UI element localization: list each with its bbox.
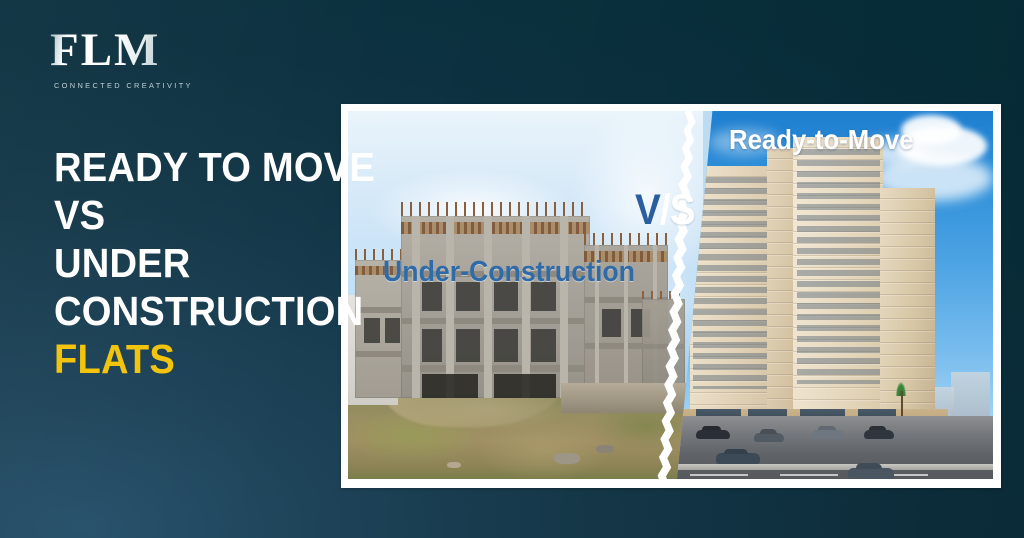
uc-opening-m7 — [494, 329, 519, 362]
versus-label: V/S — [635, 186, 695, 235]
brand-logo[interactable]: FLM CONNECTED CREATIVITY — [50, 27, 230, 90]
under-construction-structure — [355, 207, 681, 398]
column-m3 — [484, 216, 492, 398]
headline-line-1: READY TO MOVE — [54, 143, 324, 191]
car-3 — [812, 430, 844, 439]
site-boundary-wall — [561, 383, 703, 412]
car-foreground-1 — [716, 453, 760, 464]
car-2 — [754, 433, 784, 442]
scene-ready-to-move — [671, 111, 994, 479]
uc-ground-opening-1 — [422, 374, 479, 398]
logo-wordmark: FLM — [50, 27, 160, 75]
scene-under-construction — [348, 111, 703, 479]
headline-line-3: UNDER — [54, 239, 324, 287]
uc-opening-r1 — [602, 309, 621, 337]
column-m5 — [560, 216, 568, 398]
rebar-row-far — [642, 291, 684, 299]
tower-main-block — [793, 137, 883, 431]
column-m4 — [522, 216, 530, 398]
uc-opening-m5 — [422, 329, 443, 362]
car-1 — [696, 430, 730, 439]
headline-line-5-accent: FLATS — [54, 335, 324, 383]
road-kerb — [671, 464, 994, 470]
tower-main-balconies — [797, 149, 880, 385]
slab-left-2 — [355, 351, 407, 357]
tower-left-balconies — [693, 177, 767, 389]
tower-core — [767, 148, 796, 431]
logo-tagline: CONNECTED CREATIVITY — [54, 81, 230, 90]
car-foreground-2 — [848, 468, 894, 479]
uc-opening-m6 — [456, 329, 481, 362]
versus-v: V — [635, 186, 660, 234]
uc-opening-m8 — [531, 329, 556, 362]
tower-wing-right — [880, 188, 935, 431]
tower-right-floorlines — [880, 188, 935, 431]
banner-root: FLM CONNECTED CREATIVITY READY TO MOVE V… — [0, 0, 1024, 538]
versus-s: S — [670, 186, 695, 234]
rubble-pile-3 — [447, 462, 461, 468]
label-ready-to-move: Ready-to-Move — [729, 124, 914, 156]
road-marking-2 — [780, 474, 838, 476]
versus-slash: / — [660, 186, 670, 234]
headline-line-2: VS — [54, 191, 324, 239]
headline-block: READY TO MOVE VS UNDER CONSTRUCTION FLAT… — [54, 143, 344, 383]
tower-core-floorlines — [767, 148, 796, 431]
uc-opening-l2 — [385, 318, 400, 343]
comparison-photo: Under-Construction Ready-to-Move V/S — [348, 111, 993, 479]
column-m1 — [412, 216, 420, 398]
headline-line-4: CONSTRUCTION — [54, 287, 324, 335]
column-m2 — [446, 216, 454, 398]
road-marking-1 — [690, 474, 748, 476]
uc-ground-opening-2 — [494, 374, 556, 398]
rebar-row-main — [401, 202, 590, 217]
rubble-pile-1 — [554, 453, 580, 464]
uc-opening-l1 — [364, 318, 380, 343]
label-under-construction: Under-Construction — [383, 256, 635, 289]
rubble-pile-2 — [596, 445, 614, 453]
comparison-photo-frame: Under-Construction Ready-to-Move V/S — [341, 104, 1001, 488]
car-4 — [864, 430, 894, 439]
slab-far-1 — [642, 344, 684, 349]
uc-main-block — [401, 216, 590, 398]
